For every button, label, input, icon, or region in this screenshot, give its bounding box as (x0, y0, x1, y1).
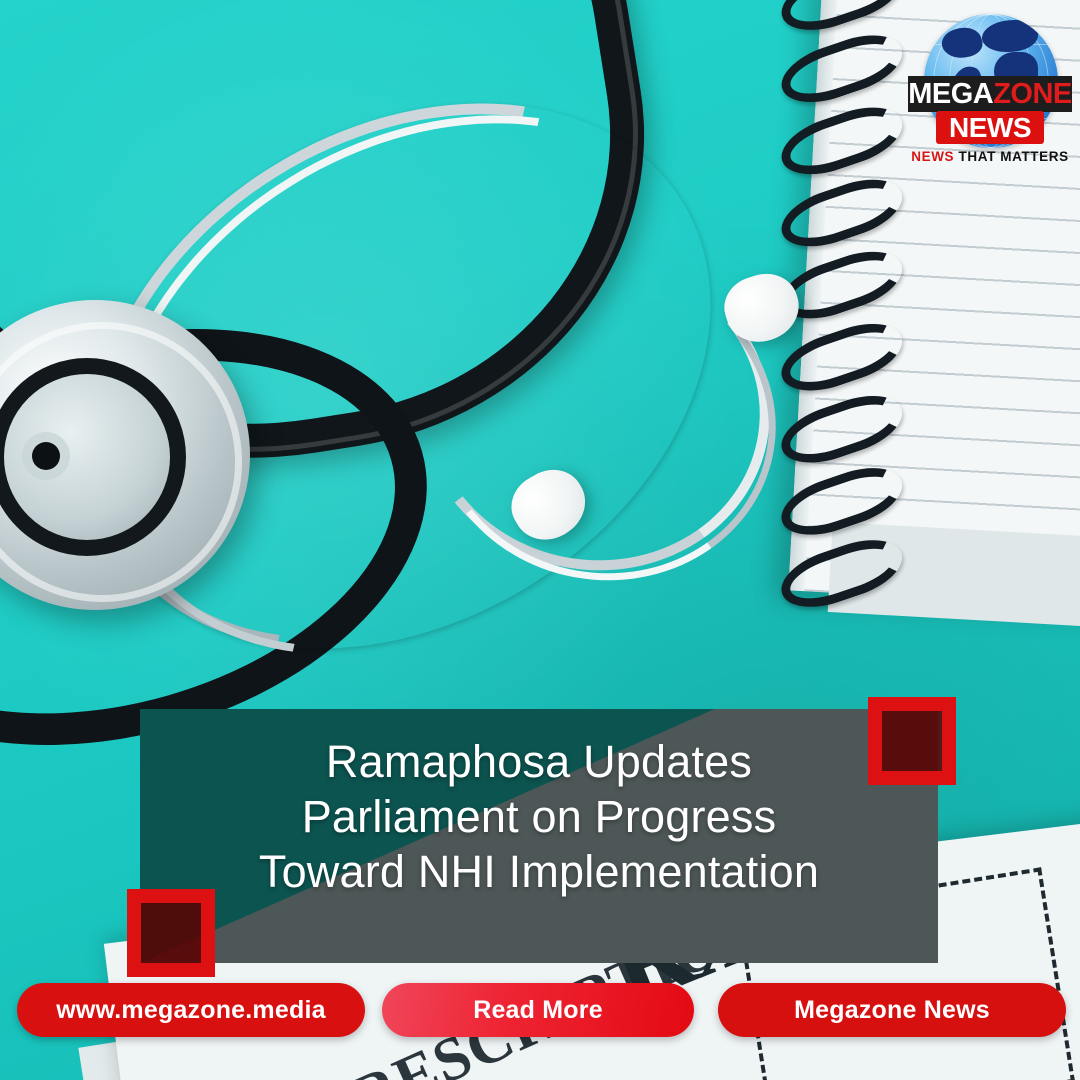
chestpiece-hub (32, 442, 60, 470)
headline-line-2: Parliament on Progress (170, 790, 908, 845)
logo-word-mega: MEGA (908, 78, 993, 111)
accent-square-bottom-left-overlap (141, 903, 201, 963)
logo-tagline-rest: THAT MATTERS (954, 149, 1069, 164)
megazone-news-label: Megazone News (794, 996, 990, 1025)
logo-tagline: NEWS THAT MATTERS (908, 149, 1072, 164)
website-url-button[interactable]: www.megazone.media (17, 983, 365, 1037)
logo-tagline-highlight: NEWS (911, 149, 954, 164)
read-more-button[interactable]: Read More (382, 983, 694, 1037)
logo-wordmark-primary: MEGAZONE (908, 76, 1072, 112)
logo-wordmark-news: NEWS (936, 111, 1044, 144)
website-url-label: www.megazone.media (56, 996, 325, 1025)
read-more-label: Read More (473, 996, 603, 1025)
headline-line-3: Toward NHI Implementation (170, 845, 908, 900)
poster-canvas: PRESCRIPTION Rx MEGAZONE NEWS NEWS THAT … (0, 0, 1080, 1080)
spiral-coil (774, 24, 910, 114)
megazone-news-button[interactable]: Megazone News (718, 983, 1066, 1037)
headline-panel: Ramaphosa Updates Parliament on Progress… (140, 709, 938, 963)
page-title: Ramaphosa Updates Parliament on Progress… (140, 709, 938, 900)
spiral-coil (774, 0, 910, 42)
headline-line-1: Ramaphosa Updates (170, 735, 908, 790)
logo-word-news: NEWS (949, 112, 1031, 144)
megazone-news-logo[interactable]: MEGAZONE NEWS NEWS THAT MATTERS (908, 10, 1072, 176)
logo-word-zone: ZONE (993, 78, 1072, 111)
